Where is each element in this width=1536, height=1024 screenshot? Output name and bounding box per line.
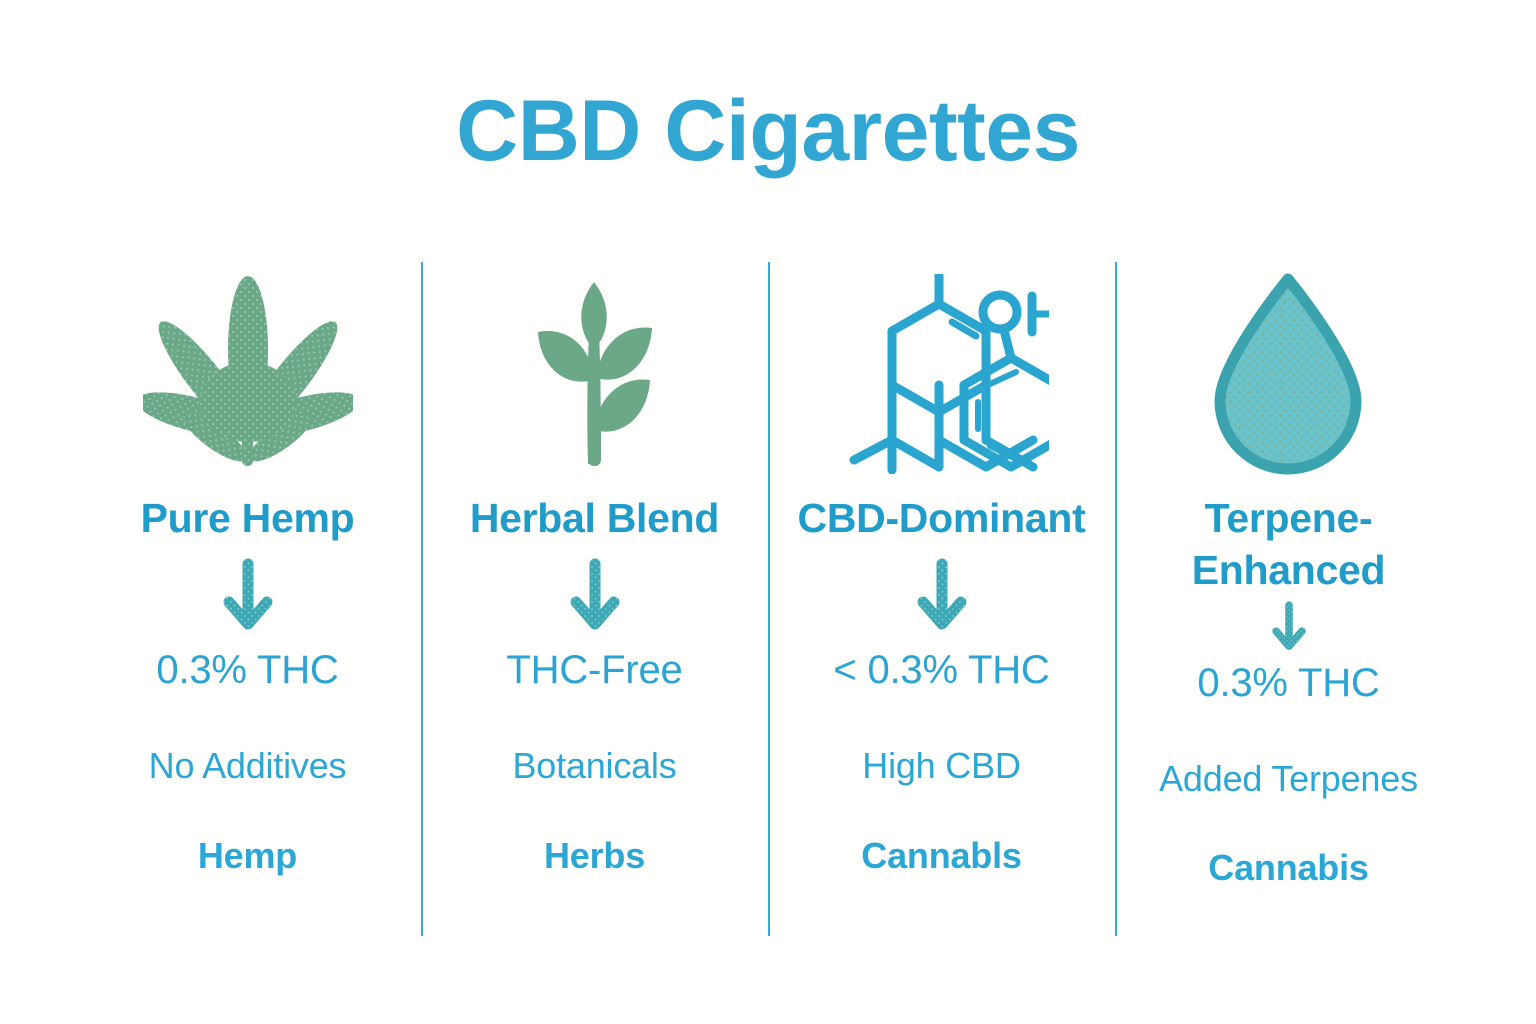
- terpene-droplet-icon: [1206, 258, 1371, 490]
- thc-value: 0.3% THC: [1197, 659, 1379, 707]
- down-arrow-icon: [1270, 601, 1308, 653]
- thc-value: < 0.3% THC: [833, 646, 1049, 694]
- heading-line: CBD-Dominant: [798, 495, 1086, 541]
- column-pure-hemp: Pure Hemp: [74, 258, 421, 936]
- feature-value: Added Terpenes: [1159, 757, 1418, 800]
- column-terpene-enhanced: Terpene- Enhanced 0.3% THC Added Terpene…: [1115, 258, 1462, 936]
- column-heading: Terpene- Enhanced: [1192, 492, 1386, 597]
- herb-sprig-icon: [520, 258, 670, 490]
- source-value: Cannabls: [861, 834, 1021, 877]
- thc-value: THC-Free: [506, 646, 682, 694]
- column-herbal-blend: Herbal Blend THC-Free Botanicals Herbs: [421, 258, 768, 936]
- page-title: CBD Cigarettes: [0, 86, 1536, 176]
- source-value: Cannabis: [1208, 846, 1368, 889]
- heading-line: Pure Hemp: [141, 495, 355, 541]
- heading-line: Enhanced: [1192, 544, 1386, 596]
- source-value: Hemp: [198, 834, 297, 877]
- column-rows: THC-Free Botanicals Herbs: [421, 646, 768, 876]
- column-heading: CBD-Dominant: [798, 492, 1086, 544]
- thc-value: 0.3% THC: [156, 646, 338, 694]
- heading-line: Terpene-: [1192, 492, 1386, 544]
- column-heading: Herbal Blend: [470, 492, 719, 544]
- feature-value: High CBD: [862, 744, 1020, 787]
- down-arrow-icon: [916, 558, 968, 634]
- comparison-columns: Pure Hemp: [74, 258, 1462, 936]
- column-rows: 0.3% THC No Additives Hemp: [74, 646, 421, 876]
- down-arrow-icon: [569, 558, 621, 634]
- feature-value: No Additives: [149, 744, 347, 787]
- column-heading: Pure Hemp: [141, 492, 355, 544]
- column-cbd-dominant: CBD-Dominant < 0.3% THC High CBD Cannabl…: [768, 258, 1115, 936]
- down-arrow-icon: [222, 558, 274, 634]
- cbd-molecule-icon: [834, 258, 1049, 490]
- source-value: Herbs: [544, 834, 645, 877]
- feature-value: Botanicals: [512, 744, 676, 787]
- column-rows: 0.3% THC Added Terpenes Cannabis: [1115, 659, 1462, 889]
- column-rows: < 0.3% THC High CBD Cannabls: [768, 646, 1115, 876]
- heading-line: Herbal Blend: [470, 495, 719, 541]
- hemp-leaf-icon: [143, 258, 353, 490]
- infographic-page: CBD Cigarettes: [0, 0, 1536, 1024]
